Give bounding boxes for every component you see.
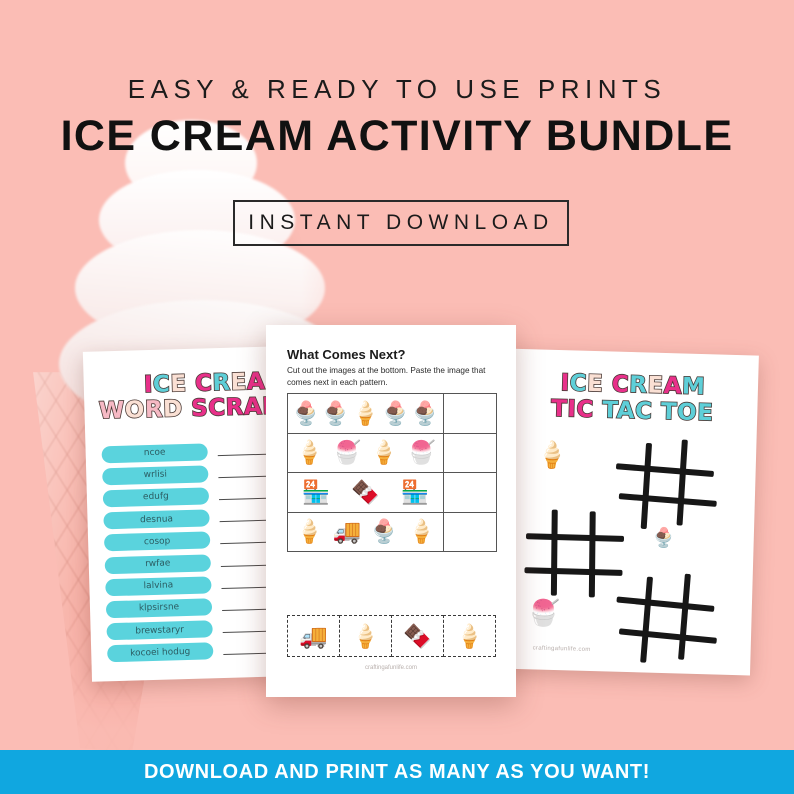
tic-tac-toe-title-line2: TIC TAC TOE	[507, 395, 758, 428]
cutout-piece[interactable]: 🍦	[339, 615, 392, 657]
scrambled-word-pill: rwfae	[105, 554, 211, 574]
scrambled-word-pill: ncoe	[101, 443, 207, 463]
instant-download-badge: INSTANT DOWNLOAD	[233, 200, 569, 246]
swirl-cone-icon: 🍦	[351, 402, 380, 425]
download-banner: DOWNLOAD AND PRINT AS MANY AS YOU WANT!	[0, 750, 794, 794]
swirl-cone-icon: 🍦	[536, 441, 569, 468]
worksheet-heading: What Comes Next?	[287, 347, 405, 362]
scrambled-word-pill: kocoei hodug	[107, 643, 213, 663]
worksheet-tic-tac-toe[interactable]: ICE CREAM TIC TAC TOE 🍦 🍨 🍧 craftingafun…	[500, 349, 759, 676]
scrambled-word-pill: wrlisi	[102, 465, 208, 485]
scrambled-word-pill: edufg	[103, 487, 209, 507]
cutout-piece[interactable]: 🍫	[391, 615, 444, 657]
swirl-cone-icon: 🍦	[455, 625, 484, 648]
answer-cell[interactable]	[443, 394, 496, 433]
cutout-piece[interactable]: 🚚	[287, 615, 340, 657]
sundae-cup-icon: 🍨	[381, 402, 410, 425]
pattern-sequence: 🍦 🚚 🍨 🍦	[288, 513, 443, 552]
worksheet-what-comes-next[interactable]: What Comes Next? Cut out the images at t…	[266, 325, 516, 697]
tic-tac-toe-board[interactable]	[614, 572, 718, 665]
answer-cell[interactable]	[443, 434, 496, 473]
pink-cone-icon: 🍦	[407, 520, 436, 543]
page-title: ICE CREAM ACTIVITY BUNDLE	[0, 112, 794, 161]
pattern-grid: 🍨 🍨 🍦 🍨 🍨 🍦 🍧 🍦 🍧 �	[287, 393, 497, 552]
scrambled-word-pill: cosop	[104, 532, 210, 552]
eyebrow-text: EASY & READY TO USE PRINTS	[0, 74, 794, 105]
sundae-cup-icon: 🍨	[321, 402, 350, 425]
banana-split-icon: 🍧	[333, 441, 362, 464]
download-banner-label: DOWNLOAD AND PRINT AS MANY AS YOU WANT!	[144, 761, 650, 784]
answer-cell[interactable]	[443, 473, 496, 512]
banana-split-icon: 🍧	[407, 441, 436, 464]
cutout-strip: 🚚 🍦 🍫 🍦	[287, 615, 495, 657]
ice-cream-shop-icon: 🏪	[401, 481, 430, 504]
choco-tub-icon: 🍨	[370, 520, 399, 543]
tic-tac-toe-board[interactable]	[523, 508, 625, 598]
mint-cone-icon: 🍦	[295, 441, 324, 464]
ice-cream-sandwich-icon: 🍫	[403, 625, 432, 648]
table-row: 🍦 🍧 🍦 🍧	[288, 434, 496, 474]
mint-cone-icon: 🍦	[370, 441, 399, 464]
ice-cream-shop-icon: 🏪	[302, 481, 331, 504]
sundae-cup-icon: 🍨	[411, 402, 440, 425]
banana-split-icon: 🍧	[527, 599, 560, 626]
pattern-sequence: 🍦 🍧 🍦 🍧	[288, 434, 443, 473]
sundae-cup-icon: 🍨	[292, 402, 321, 425]
scrambled-word-pill: desnua	[103, 510, 209, 530]
ice-cream-truck-icon: 🚚	[299, 625, 328, 648]
scrambled-word-pill: klpsirsne	[106, 598, 212, 618]
cutout-piece[interactable]: 🍦	[443, 615, 496, 657]
ice-cream-truck-icon: 🚚	[333, 520, 362, 543]
answer-cell[interactable]	[443, 513, 496, 552]
table-row: 🍦 🚚 🍨 🍦	[288, 513, 496, 552]
watermark: craftingafunlife.com	[266, 665, 516, 671]
poster-canvas: EASY & READY TO USE PRINTS ICE CREAM ACT…	[0, 0, 794, 794]
pink-cone-icon: 🍦	[295, 520, 324, 543]
mint-cone-icon: 🍦	[351, 625, 380, 648]
scrambled-word-pill: lalvina	[105, 576, 211, 596]
sundae-cup-icon: 🍨	[651, 529, 675, 549]
watermark: craftingafunlife.com	[533, 645, 591, 653]
table-row: 🍨 🍨 🍦 🍨 🍨	[288, 394, 496, 434]
ice-cream-sandwich-icon: 🍫	[351, 481, 380, 504]
instant-download-label: INSTANT DOWNLOAD	[248, 211, 553, 235]
worksheet-instructions: Cut out the images at the bottom. Paste …	[287, 365, 495, 389]
pattern-sequence: 🏪 🍫 🏪	[288, 473, 443, 512]
table-row: 🏪 🍫 🏪	[288, 473, 496, 513]
pattern-sequence: 🍨 🍨 🍦 🍨 🍨	[288, 394, 443, 433]
tic-tac-toe-board[interactable]	[613, 437, 719, 532]
scrambled-word-pill: brewstaryr	[106, 620, 212, 640]
